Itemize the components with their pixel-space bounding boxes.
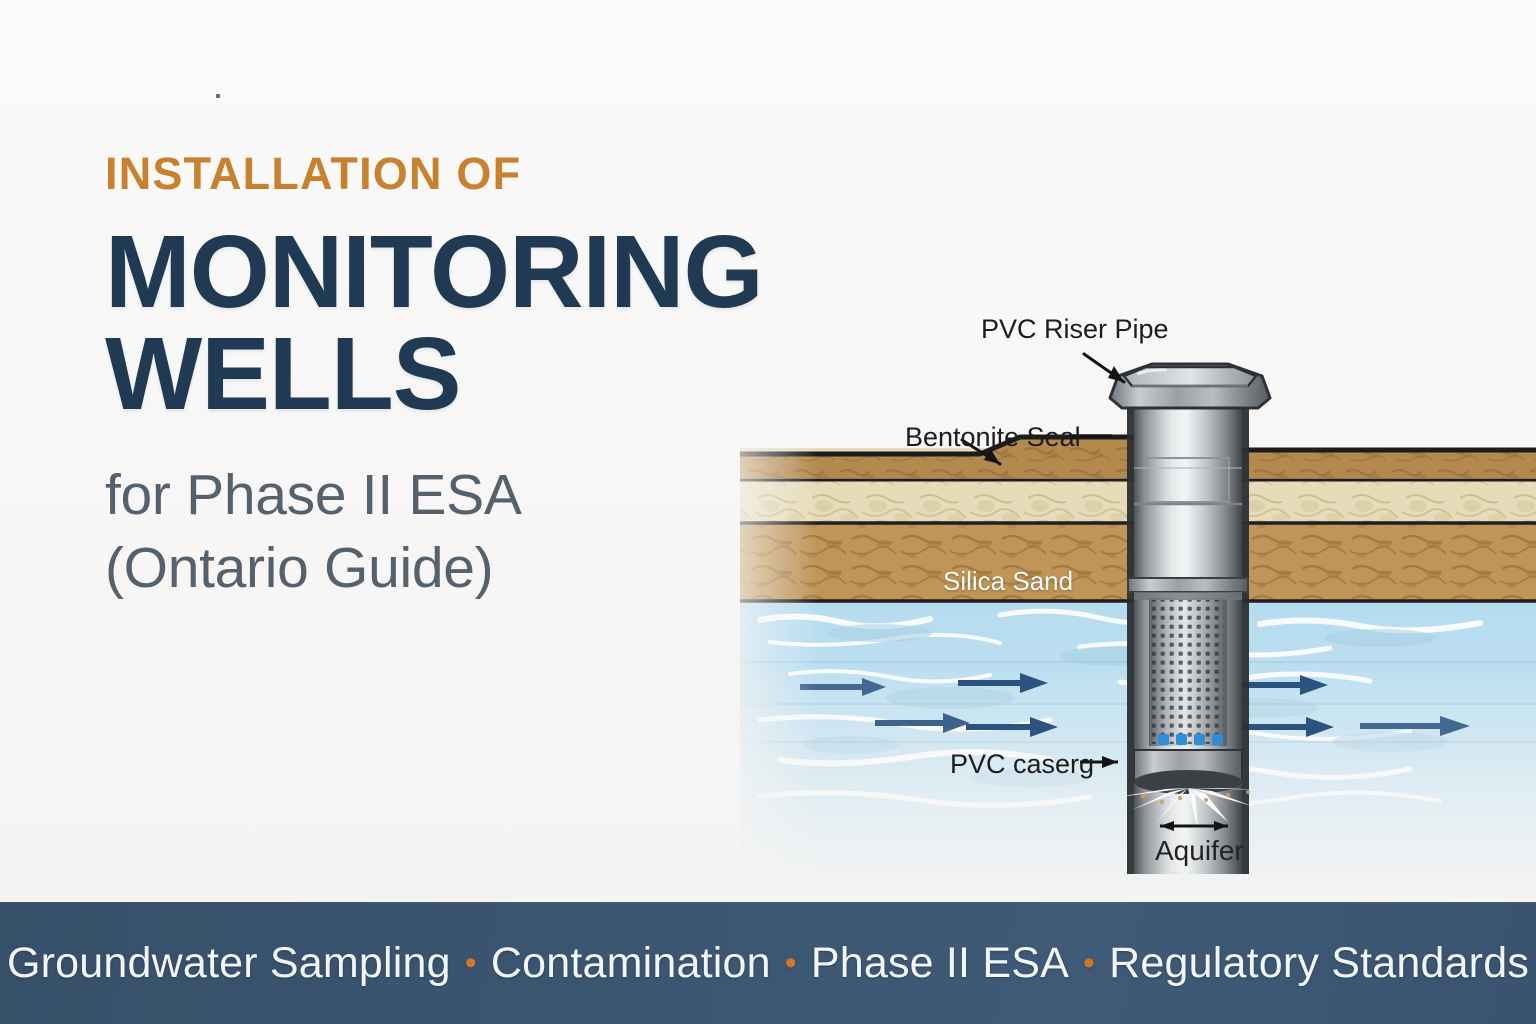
speck-artifact bbox=[216, 94, 220, 98]
banner-item: Regulatory Standards bbox=[1109, 939, 1529, 987]
label-silica-sand: Silica Sand bbox=[943, 566, 1073, 597]
protective-well-cap bbox=[1110, 364, 1270, 408]
monitoring-well bbox=[1110, 364, 1270, 874]
banner-separator: • bbox=[771, 944, 811, 982]
label-bentonite-seal: Bentonite Seal bbox=[905, 422, 1081, 453]
well-diagram: PVC Riser Pipe Bentonite Seal Silica San… bbox=[700, 290, 1536, 900]
keyword-banner-text: Groundwater Sampling•Contamination•Phase… bbox=[7, 939, 1529, 988]
headline-line-1: MONITORING bbox=[105, 214, 763, 329]
poster-canvas: INSTALLATION OF MONITORING WELLS for Pha… bbox=[0, 0, 1536, 1024]
banner-item: Groundwater Sampling bbox=[7, 939, 451, 987]
eyebrow-text: INSTALLATION OF bbox=[105, 150, 895, 197]
label-aquifer: Aquifer bbox=[1155, 835, 1244, 867]
subtitle-line-1: for Phase II ESA bbox=[105, 463, 522, 527]
keyword-banner: Groundwater Sampling•Contamination•Phase… bbox=[0, 902, 1536, 1024]
banner-item: Contamination bbox=[491, 939, 771, 987]
banner-separator: • bbox=[451, 944, 491, 982]
label-pvc-riser-pipe: PVC Riser Pipe bbox=[981, 314, 1169, 345]
label-pvc-casing: PVC caserg bbox=[950, 749, 1094, 780]
casing-coupling bbox=[1128, 578, 1248, 592]
well-diagram-svg bbox=[700, 290, 1536, 900]
banner-separator: • bbox=[1069, 944, 1109, 982]
banner-item: Phase II ESA bbox=[811, 939, 1069, 987]
